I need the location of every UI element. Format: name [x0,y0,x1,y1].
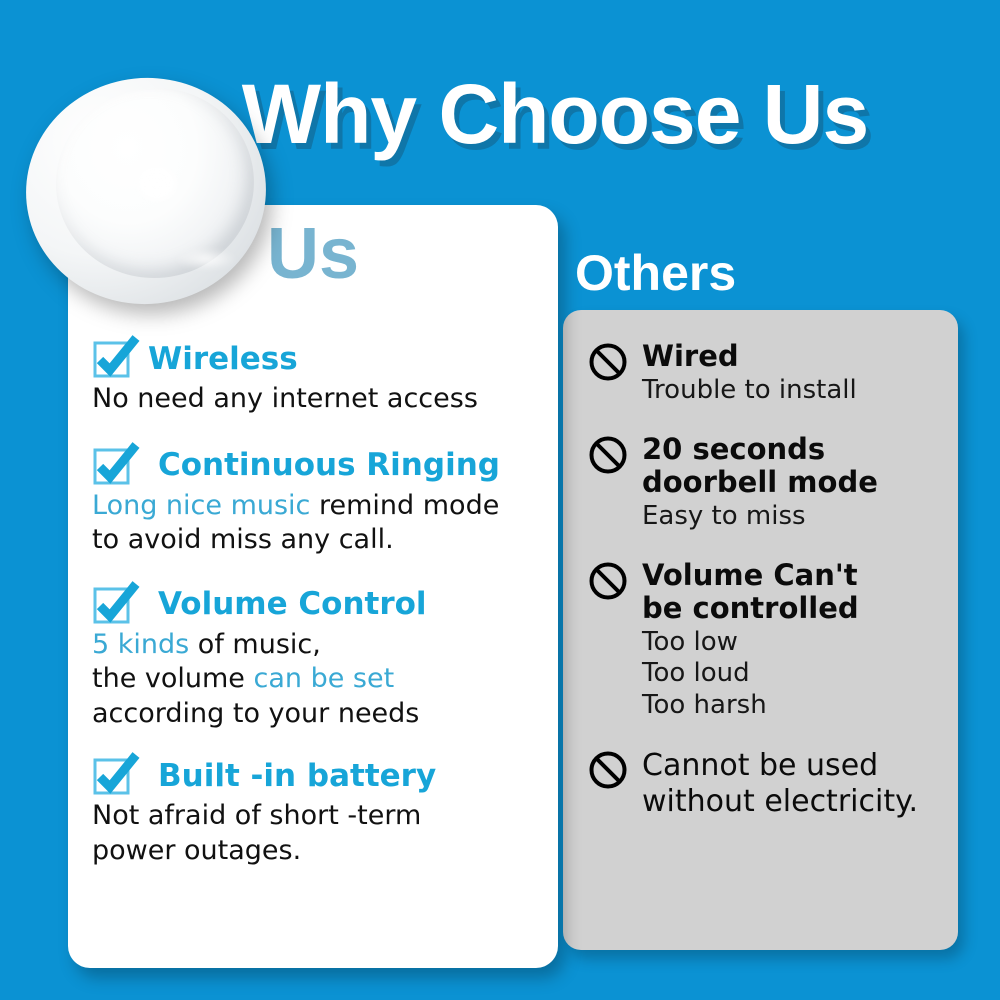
others-list-item: 20 seconds doorbell mode Easy to miss [588,433,960,533]
us-desc-line: 5 kinds of music, [92,628,544,663]
us-list-item: Continuous Ringing Long nice music remin… [92,447,544,558]
others-item-description: Easy to miss [642,501,960,533]
others-item-description: Too harsh [642,690,960,722]
text-run: be controlled [642,591,859,625]
prohibited-slash-circle-icon [588,561,628,601]
others-list-item: Volume Can't be controlled Too low Too l… [588,559,960,722]
column-header-others: Others [575,248,736,298]
us-item-heading: Wireless [92,340,544,378]
us-item-description: Not afraid of short -term power outages. [92,799,544,868]
text-run: Too harsh [642,690,767,720]
others-drawback-list: Wired Trouble to install 20 seconds door… [588,340,960,846]
checkbox-checked-icon [92,757,132,795]
us-desc-line: No need any internet access [92,382,544,417]
us-item-description: 5 kinds of music, the volume can be set … [92,628,544,732]
text-run: power outages. [92,835,301,866]
text-run: Not afraid of short -term [92,800,421,831]
text-run: according to your needs [92,698,419,729]
prohibited-slash-circle-icon [588,342,628,382]
others-item-description: Too loud [642,658,960,690]
infographic-canvas: Why Choose Us Us Others Wireless No need… [0,0,1000,1000]
text-run-highlight: Long nice music [92,490,310,521]
text-run: of music, [189,629,321,660]
us-desc-line: to avoid miss any call. [92,523,544,558]
text-run-highlight: 5 kinds [92,629,189,660]
us-item-title: Built -in battery [158,760,436,793]
others-list-item: Cannot be used without electricity. [588,748,960,820]
us-item-heading: Built -in battery [92,757,544,795]
checkbox-checked-icon [92,447,132,485]
us-desc-line: Not afraid of short -term [92,799,544,834]
others-item-title: without electricity. [642,784,960,820]
checkbox-checked-icon [92,586,132,624]
prohibited-slash-circle-icon [588,750,628,790]
dome-secondary-highlight-icon [176,248,236,270]
text-run: Easy to miss [642,501,806,531]
others-item-body: 20 seconds doorbell mode Easy to miss [642,433,960,533]
text-run: to avoid miss any call. [92,524,394,555]
text-run: Too loud [642,658,750,688]
text-run: Cannot be used [642,748,878,783]
us-desc-line: the volume can be set [92,662,544,697]
dome-highlight-icon [134,166,180,204]
others-item-body: Volume Can't be controlled Too low Too l… [642,559,960,722]
others-list-item: Wired Trouble to install [588,340,960,407]
us-list-item: Volume Control 5 kinds of music, the vol… [92,586,544,732]
us-item-description: No need any internet access [92,382,544,417]
text-run: doorbell mode [642,465,878,499]
text-run: the volume [92,663,254,694]
text-run: No need any internet access [92,383,478,414]
us-desc-line: Long nice music remind mode [92,489,544,524]
others-item-title: Volume Can't [642,559,960,592]
text-run: Trouble to install [642,375,857,405]
text-run: without electricity. [642,784,918,819]
us-item-heading: Volume Control [92,586,544,624]
others-item-title: be controlled [642,592,960,625]
dome-light-product-image [26,78,278,318]
us-item-title: Volume Control [158,588,427,621]
others-item-title: doorbell mode [642,466,960,499]
others-item-body: Cannot be used without electricity. [642,748,960,820]
us-item-description: Long nice music remind mode to avoid mis… [92,489,544,558]
prohibited-slash-circle-icon [588,435,628,475]
us-list-item: Wireless No need any internet access [92,340,544,417]
us-desc-line: power outages. [92,834,544,869]
others-item-body: Wired Trouble to install [642,340,960,407]
text-run-highlight: can be set [254,663,395,694]
us-item-title: Continuous Ringing [158,449,500,482]
checkbox-checked-icon [92,340,132,378]
others-item-title: Wired [642,339,739,373]
others-item-title: 20 seconds [642,433,960,466]
us-list-item: Built -in battery Not afraid of short -t… [92,757,544,868]
us-item-heading: Continuous Ringing [92,447,544,485]
text-run: Volume Can't [642,558,858,592]
others-item-description: Trouble to install [642,375,960,407]
others-item-title: Cannot be used [642,748,960,784]
text-run: remind mode [310,490,499,521]
us-item-title: Wireless [148,343,298,376]
text-run: 20 seconds [642,432,825,466]
text-run: Too low [642,627,738,657]
us-feature-list: Wireless No need any internet access Con… [92,340,544,888]
us-desc-line: according to your needs [92,697,544,732]
text-run: Wired [642,339,739,373]
others-item-description: Too low [642,627,960,659]
